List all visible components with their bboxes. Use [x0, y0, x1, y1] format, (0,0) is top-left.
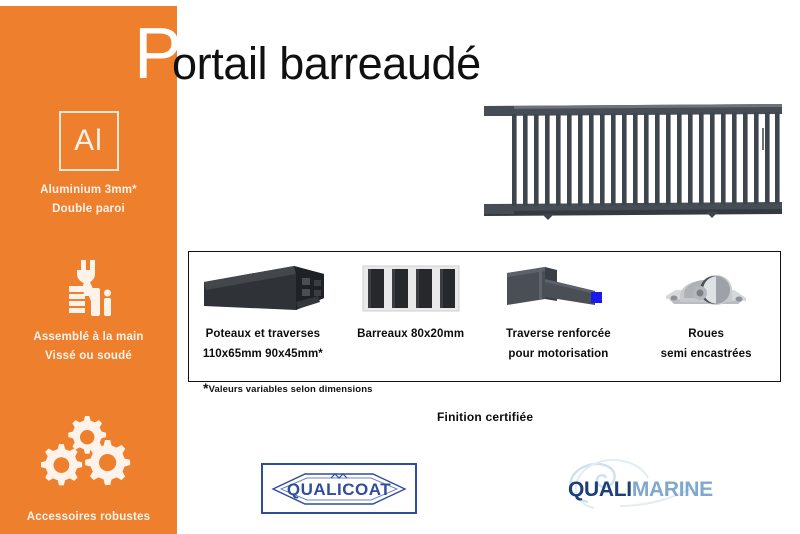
component-sub-reinforced-rail: pour motorisation — [508, 346, 608, 362]
hand-wrench-icon — [0, 258, 177, 320]
sidebar-feature-aluminium-label-1: Aluminium 3mm* — [0, 181, 177, 200]
qualimarine-text-part1: QUALI — [568, 478, 632, 501]
sidebar-feature-accessories-label-1: Accessoires robustes — [0, 508, 177, 527]
sliding-barred-gate-illustration — [466, 98, 788, 224]
qualimarine-logo-text: QUALIMARINE — [568, 478, 713, 502]
sidebar-feature-aluminium: Al Aluminium 3mm* Double paroi — [0, 111, 177, 219]
sidebar-feature-assembly-label-1: Assemblé à la main — [0, 328, 177, 347]
sidebar-feature-accessories: Accessoires robustes — [0, 414, 177, 527]
components-box: Poteaux et traverses 110x65mm 90x45mm* B… — [188, 251, 781, 382]
bars-profile-photo — [362, 258, 460, 320]
qualimarine-text-part2: MARINE — [632, 478, 713, 501]
qualicoat-logo-text: QUALICOAT — [287, 480, 391, 499]
component-cell-reinforced-rail: Traverse renforcée pour motorisation — [485, 252, 633, 381]
product-sheet-page: Al Aluminium 3mm* Double paroi — [0, 0, 800, 534]
gears-icon — [0, 414, 177, 490]
component-sub-posts: 110x65mm 90x45mm* — [203, 346, 323, 362]
component-cell-wheels: Roues semi encastrées — [632, 252, 780, 381]
component-cell-posts: Poteaux et traverses 110x65mm 90x45mm* — [189, 252, 337, 381]
page-title-rest: ortail barreaudé — [172, 38, 481, 90]
feature-sidebar: Al Aluminium 3mm* Double paroi — [0, 6, 177, 534]
sidebar-feature-aluminium-label-2: Double paroi — [0, 200, 177, 219]
component-caption-wheels: Roues — [688, 326, 724, 342]
qualicoat-logo: QUALICOAT — [261, 463, 417, 514]
component-sub-wheels: semi encastrées — [661, 346, 752, 362]
sidebar-feature-assembly-label-2: Vissé ou soudé — [0, 347, 177, 366]
sidebar-feature-assembly: Assemblé à la main Vissé ou soudé — [0, 258, 177, 366]
component-caption-posts: Poteaux et traverses — [206, 326, 321, 342]
post-and-rail-profile-photo — [198, 258, 328, 320]
certification-title: Finition certifiée — [437, 410, 533, 424]
component-cell-bars: Barreaux 80x20mm — [337, 252, 485, 381]
footnote-text: Valeurs variables selon dimensions — [209, 384, 373, 395]
component-caption-reinforced-rail: Traverse renforcée — [506, 326, 611, 342]
reinforced-rail-motorisation-photo — [499, 258, 617, 320]
aluminium-icon-text: Al — [74, 124, 103, 158]
semi-recessed-wheel-photo — [660, 258, 752, 320]
component-caption-bars: Barreaux 80x20mm — [357, 326, 464, 342]
dimensions-footnote: *Valeurs variables selon dimensions — [203, 384, 372, 395]
qualimarine-logo: QUALIMARINE — [560, 458, 715, 512]
aluminium-square-icon: Al — [59, 111, 119, 171]
